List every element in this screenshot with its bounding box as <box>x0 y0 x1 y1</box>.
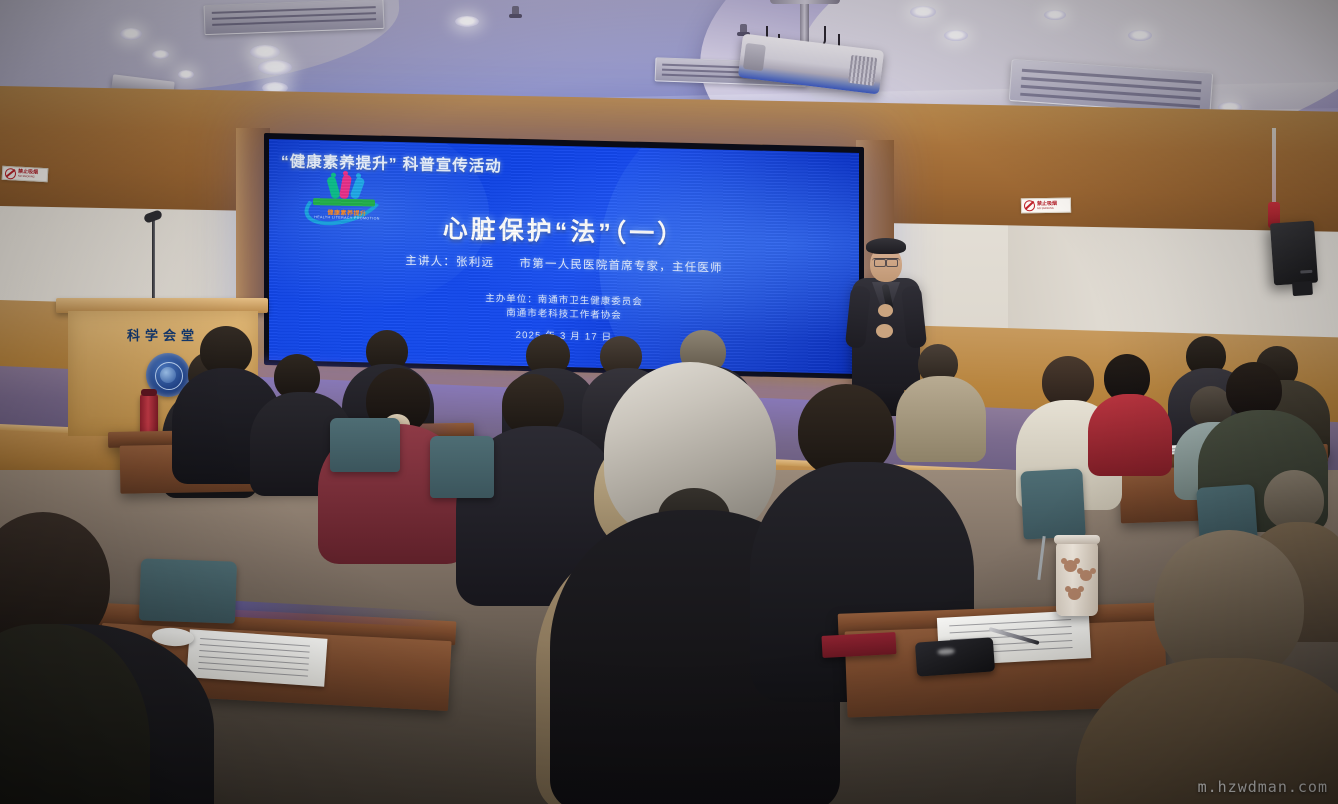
ceiling-downlight <box>258 60 292 75</box>
bear-decoration <box>1080 570 1092 581</box>
lecture-hall-photo: 禁止吸烟 NO SMOKING 禁止吸烟 NO SMOKING “健康素养提升”… <box>0 0 1338 804</box>
wall-speaker-mount <box>1292 281 1313 296</box>
audience-head <box>1264 470 1324 530</box>
ceiling-downlight <box>944 30 968 41</box>
logo-dot-pink <box>343 171 348 176</box>
no-smoking-icon <box>5 167 17 179</box>
no-smoking-sublabel: NO SMOKING <box>18 175 38 179</box>
presenter-glasses <box>872 258 900 266</box>
presenter-beret <box>866 238 906 254</box>
thermos-cup <box>1056 542 1098 616</box>
no-smoking-sign-right: 禁止吸烟 NO SMOKING <box>1021 198 1071 214</box>
audience-torso <box>896 376 986 462</box>
ceiling-downlight <box>250 45 280 59</box>
ceiling-downlight <box>178 70 194 79</box>
presenter-hand-lower <box>876 324 893 338</box>
audience-torso <box>1088 394 1172 476</box>
logo-dot-blue <box>356 173 361 178</box>
podium-microphone-stand <box>152 218 155 300</box>
audience-chair <box>330 418 400 472</box>
red-folder <box>821 632 896 658</box>
projector-lens <box>743 43 766 71</box>
decorative-tassel <box>1272 128 1276 218</box>
smartphone <box>915 637 995 676</box>
no-smoking-icon <box>1024 200 1035 211</box>
wall-speaker <box>1270 221 1318 286</box>
ceiling-downlight <box>120 28 142 40</box>
ceiling-sprinkler <box>512 6 519 16</box>
ceiling-sprinkler <box>740 24 747 34</box>
bear-decoration <box>1068 588 1081 600</box>
ceiling-downlight <box>455 16 479 27</box>
no-smoking-sublabel: NO SMOKING <box>1037 206 1057 209</box>
logo-dot-green <box>331 173 336 178</box>
ceiling-downlight <box>152 50 169 59</box>
site-watermark: m.hzwdman.com <box>1198 778 1328 796</box>
projector-mount-plate <box>770 0 840 4</box>
desk-paper <box>186 629 327 687</box>
ceiling-downlight <box>1128 30 1152 41</box>
ceiling-downlight <box>910 6 936 18</box>
presenter-hand-upper <box>878 304 893 317</box>
no-smoking-sign-left: 禁止吸烟 NO SMOKING <box>2 166 49 182</box>
projector-vent <box>848 55 877 86</box>
bear-decoration <box>1064 560 1077 572</box>
audience-chair <box>1020 468 1085 539</box>
ceiling-downlight <box>1044 10 1066 20</box>
logo-green-bar <box>313 198 375 206</box>
audience-chair <box>430 436 494 498</box>
audience-chair <box>139 558 237 623</box>
slide-surface: “健康素养提升” 科普宣传活动 健康素养提升 HEALTH LITERACY P… <box>269 139 859 374</box>
